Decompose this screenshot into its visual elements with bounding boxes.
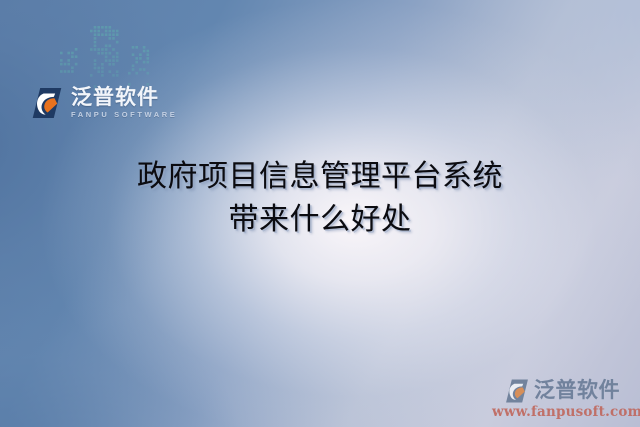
fanpu-hexagon-swoosh-icon (30, 86, 64, 120)
watermark-url: www.fanpusoft.com (492, 406, 632, 420)
fanpu-hexagon-swoosh-icon (504, 378, 530, 404)
brand-lockup: 泛普软件 FANPU SOFTWARE (30, 86, 177, 120)
pixel-building-skyline-icon (58, 20, 158, 92)
slide-canvas: 泛普软件 FANPU SOFTWARE 政府项目信息管理平台系统 带来什么好处 … (0, 0, 640, 427)
brand-text: 泛普软件 FANPU SOFTWARE (71, 87, 177, 119)
watermark: 泛普软件 www.fanpusoft.com (492, 378, 632, 420)
brand-name-en: FANPU SOFTWARE (71, 111, 177, 119)
watermark-brand-row: 泛普软件 (492, 378, 632, 404)
page-title: 政府项目信息管理平台系统 带来什么好处 (0, 156, 640, 241)
page-title-line-2: 带来什么好处 (0, 199, 640, 242)
watermark-name-cn: 泛普软件 (534, 380, 620, 401)
brand-name-cn: 泛普软件 (71, 87, 177, 108)
page-title-line-1: 政府项目信息管理平台系统 (0, 156, 640, 199)
